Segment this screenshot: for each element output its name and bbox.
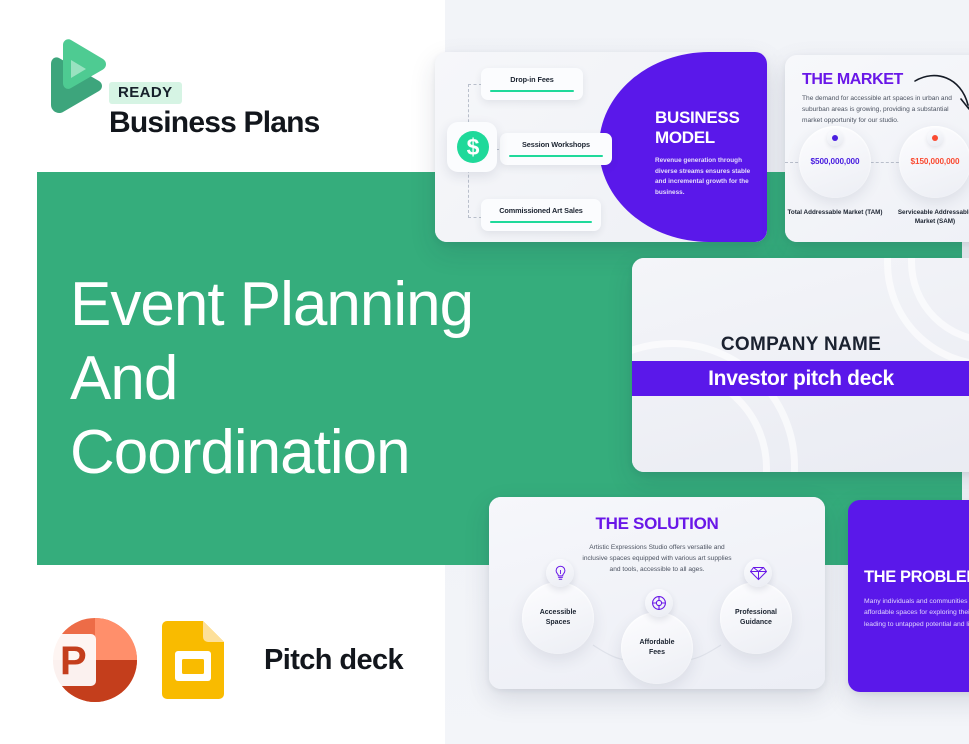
market-metric-caption: Total Addressable Market (TAM) xyxy=(787,208,883,217)
poster-canvas: READY Business Plans Event Planning And … xyxy=(0,0,969,744)
brand-header: READY Business Plans xyxy=(37,34,367,126)
market-metric-circle: $150,000,000 xyxy=(899,126,969,198)
solution-node-label: Affordable Fees xyxy=(621,638,693,658)
page-title-line-3: Coordination xyxy=(70,416,540,490)
solution-node[interactable]: Accessible Spaces xyxy=(522,582,594,654)
solution-node[interactable]: Affordable Fees xyxy=(621,612,693,684)
investor-pitch-deck-label: Investor pitch deck xyxy=(632,361,969,396)
lifebuoy-icon xyxy=(645,589,673,617)
dollar-sign-card: $ xyxy=(447,122,497,172)
business-model-title: BUSINESS MODEL xyxy=(655,108,740,148)
purple-dot-icon xyxy=(832,135,838,141)
problem-title: THE PROBLEM xyxy=(864,568,969,587)
slide-the-solution[interactable]: THE SOLUTION Artistic Expressions Studio… xyxy=(489,497,825,689)
business-model-description: Revenue generation through diverse strea… xyxy=(655,156,759,198)
file-type-label: Pitch deck xyxy=(264,644,403,677)
chip-label: Commissioned Art Sales xyxy=(481,206,601,215)
powerpoint-icon: P xyxy=(40,612,138,708)
chip-label: Drop-in Fees xyxy=(481,75,583,84)
solution-node-label-line-2: Fees xyxy=(621,648,693,658)
business-model-title-line-1: BUSINESS xyxy=(655,108,740,128)
slide-company-name[interactable]: COMPANY NAME Investor pitch deck xyxy=(632,258,969,472)
solution-node-label: Accessible Spaces xyxy=(522,608,594,628)
investor-pitch-deck-band: Investor pitch deck xyxy=(632,361,969,396)
svg-text:P: P xyxy=(60,639,87,683)
brand-name: Business Plans xyxy=(109,108,320,138)
market-metric-value: $500,000,000 xyxy=(799,157,871,166)
solution-node-label-line-1: Professional xyxy=(720,608,792,618)
page-title-line-2: And xyxy=(70,342,540,416)
business-model-chip[interactable]: Drop-in Fees xyxy=(481,68,583,100)
slide-the-market[interactable]: THE MARKET The demand for accessible art… xyxy=(785,55,969,242)
market-metric-circle: $500,000,000 xyxy=(799,126,871,198)
page-title-line-1: Event Planning xyxy=(70,268,540,342)
market-metric-value: $150,000,000 xyxy=(899,157,969,166)
solution-node-label-line-2: Spaces xyxy=(522,618,594,628)
slide-the-problem[interactable]: THE PROBLEM Many individuals and communi… xyxy=(848,500,969,692)
play-triangle-logo-icon xyxy=(37,38,109,114)
market-title: THE MARKET xyxy=(802,71,903,89)
market-metric-caption: Serviceable Addressable Market (SAM) xyxy=(887,208,969,226)
chip-underline xyxy=(509,155,603,157)
red-dot-icon xyxy=(932,135,938,141)
chip-underline xyxy=(490,221,592,223)
connector-line-top xyxy=(468,84,482,85)
connector-line-bottom xyxy=(468,217,482,218)
business-model-title-line-2: MODEL xyxy=(655,128,740,148)
chip-label: Session Workshops xyxy=(500,140,612,149)
solution-node-label-line-2: Guidance xyxy=(720,618,792,628)
solution-node-label-line-1: Affordable xyxy=(621,638,693,648)
lightbulb-icon xyxy=(546,559,574,587)
solution-node[interactable]: Professional Guidance xyxy=(720,582,792,654)
page-title: Event Planning And Coordination xyxy=(70,268,540,490)
solution-node-label: Professional Guidance xyxy=(720,608,792,628)
company-name-heading: COMPANY NAME xyxy=(632,334,969,356)
ready-badge: READY xyxy=(109,82,182,104)
chip-underline xyxy=(490,90,574,92)
file-type-row: P Pitch deck xyxy=(40,612,403,708)
business-model-chip[interactable]: Commissioned Art Sales xyxy=(481,199,601,231)
diamond-icon xyxy=(744,559,772,587)
business-model-chip[interactable]: Session Workshops xyxy=(500,133,612,165)
dollar-sign-icon: $ xyxy=(457,131,489,163)
google-slides-icon xyxy=(162,621,224,699)
curved-arrow-icon xyxy=(913,71,969,117)
solution-node-label-line-1: Accessible xyxy=(522,608,594,618)
problem-description: Many individuals and communities lack ac… xyxy=(864,596,969,630)
